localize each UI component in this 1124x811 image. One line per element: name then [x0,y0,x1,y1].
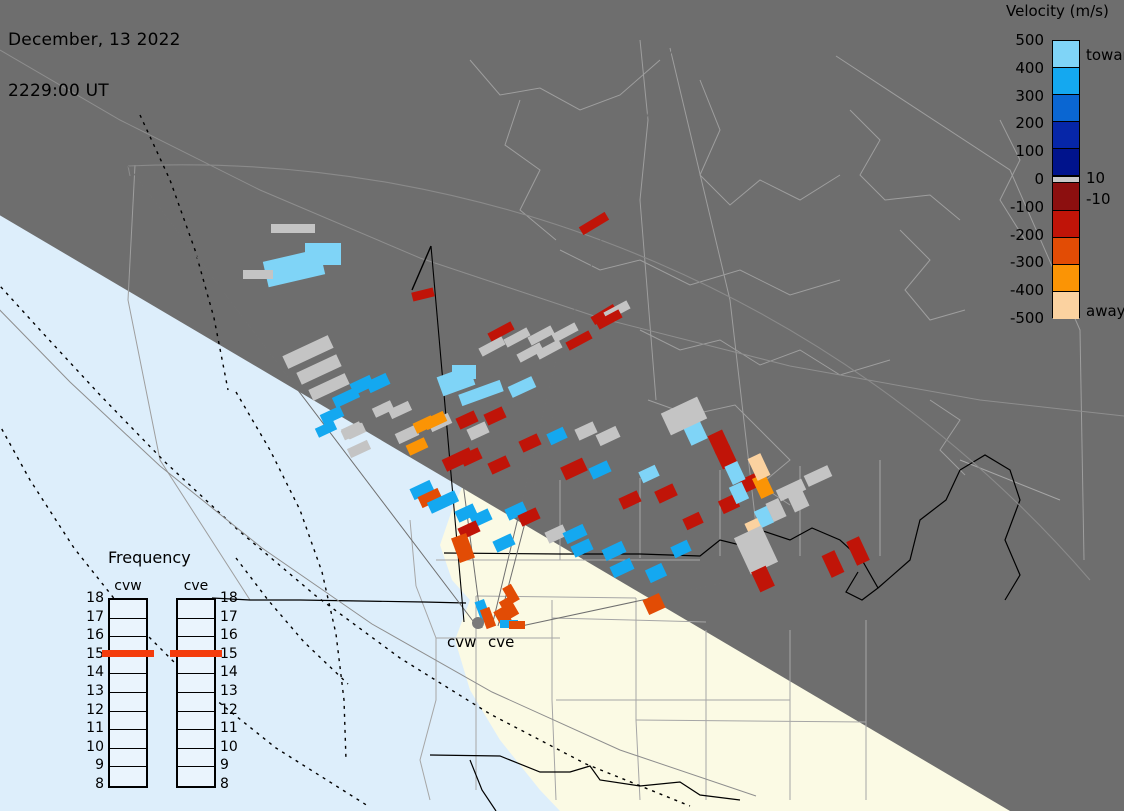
frequency-scale-row [110,600,146,619]
frequency-marker [102,650,154,657]
frequency-scale-row [110,693,146,712]
frequency-scale-row [110,767,146,786]
colorbar-tick-label: 400 [1015,59,1044,77]
colorbar-band [1053,265,1079,292]
colorbar-band [1053,68,1079,95]
frequency-tick-label: 18 [220,590,238,606]
frequency-tick-label: 13 [86,683,104,699]
frequency-tick-label: 8 [86,776,104,792]
frequency-tick-label: 11 [86,720,104,736]
colorbar-band [1053,292,1079,319]
frequency-scale-row [178,674,214,693]
frequency-scale-row [110,619,146,638]
frequency-scale-row [178,712,214,731]
colorbar-band [1053,149,1079,176]
frequency-scale-row [178,767,214,786]
frequency-scale-row [178,693,214,712]
frequency-tick-label: 14 [86,664,104,680]
colorbar-tick-label: -300 [1010,253,1044,271]
frequency-scale-row [110,749,146,768]
title-date: December, 13 2022 [8,32,181,49]
colorbar-band [1053,41,1079,68]
colorbar-tick-label: -400 [1010,281,1044,299]
colorbar-tick-label: 200 [1015,114,1044,132]
colorbar-tick-label: 100 [1015,142,1044,160]
frequency-scale-row [178,619,214,638]
title-time: 2229:00 UT [8,83,181,100]
frequency-tick-label: 15 [220,646,238,662]
frequency-tick-label: 9 [86,757,104,773]
colorbar-tick-label: 0 [1034,170,1044,188]
frequency-tick-label: 14 [220,664,238,680]
frequency-tick-label: 11 [220,720,238,736]
colorbar-away-label: away [1086,302,1124,320]
frequency-scale-row [110,674,146,693]
colorbar-gradient [1052,40,1080,318]
frequency-tick-label: 16 [86,627,104,643]
colorbar-tick-label: 500 [1015,31,1044,49]
colorbar-zero-band [1053,176,1079,183]
colorbar-band [1053,95,1079,122]
frequency-tick-label: 16 [220,627,238,643]
frequency-scale-row [110,656,146,675]
frequency-legend: Frequency cvw cve 1818171716161515141413… [86,548,246,793]
colorbar-threshold-negative: -10 [1086,190,1111,208]
frequency-tick-label: 12 [86,702,104,718]
colorbar-tick-label: -500 [1010,309,1044,327]
frequency-scale-row [110,730,146,749]
frequency-legend-title: Frequency [108,548,191,567]
frequency-scale-row [110,712,146,731]
frequency-scale-row [178,730,214,749]
frequency-scale-box [108,598,148,788]
frequency-tick-label: 8 [220,776,229,792]
page-title: December, 13 2022 2229:00 UT [8,0,181,134]
frequency-tick-label: 10 [220,739,238,755]
frequency-column-name: cve [176,578,216,594]
frequency-column-name: cvw [108,578,148,594]
frequency-scale-box [176,598,216,788]
frequency-tick-label: 10 [86,739,104,755]
site-label-cvw: cvw [447,633,476,651]
colorbar-band [1053,211,1079,238]
colorbar-tick-label: -200 [1010,226,1044,244]
site-label-cve: cve [488,633,514,651]
colorbar-threshold-positive: 10 [1086,169,1105,187]
colorbar-tick-label: -100 [1010,198,1044,216]
frequency-tick-label: 17 [86,609,104,625]
colorbar-band [1053,183,1079,210]
frequency-tick-label: 13 [220,683,238,699]
colorbar-band [1053,238,1079,265]
radar-velocity-map: cvw cve December, 13 2022 2229:00 UT Vel… [0,0,1124,811]
frequency-marker [170,650,222,657]
colorbar-band [1053,122,1079,149]
frequency-tick-label: 9 [220,757,229,773]
frequency-scale-row [178,656,214,675]
colorbar: Velocity (m/s) 5004003002001000-100-200-… [952,0,1124,340]
frequency-tick-label: 18 [86,590,104,606]
colorbar-toward-label: toward [1086,46,1124,64]
frequency-scale-row [178,749,214,768]
frequency-tick-label: 17 [220,609,238,625]
colorbar-title: Velocity (m/s) [1006,2,1109,20]
colorbar-tick-label: 300 [1015,87,1044,105]
radar-site-dot [472,617,484,629]
frequency-tick-label: 12 [220,702,238,718]
frequency-scale-row [178,600,214,619]
